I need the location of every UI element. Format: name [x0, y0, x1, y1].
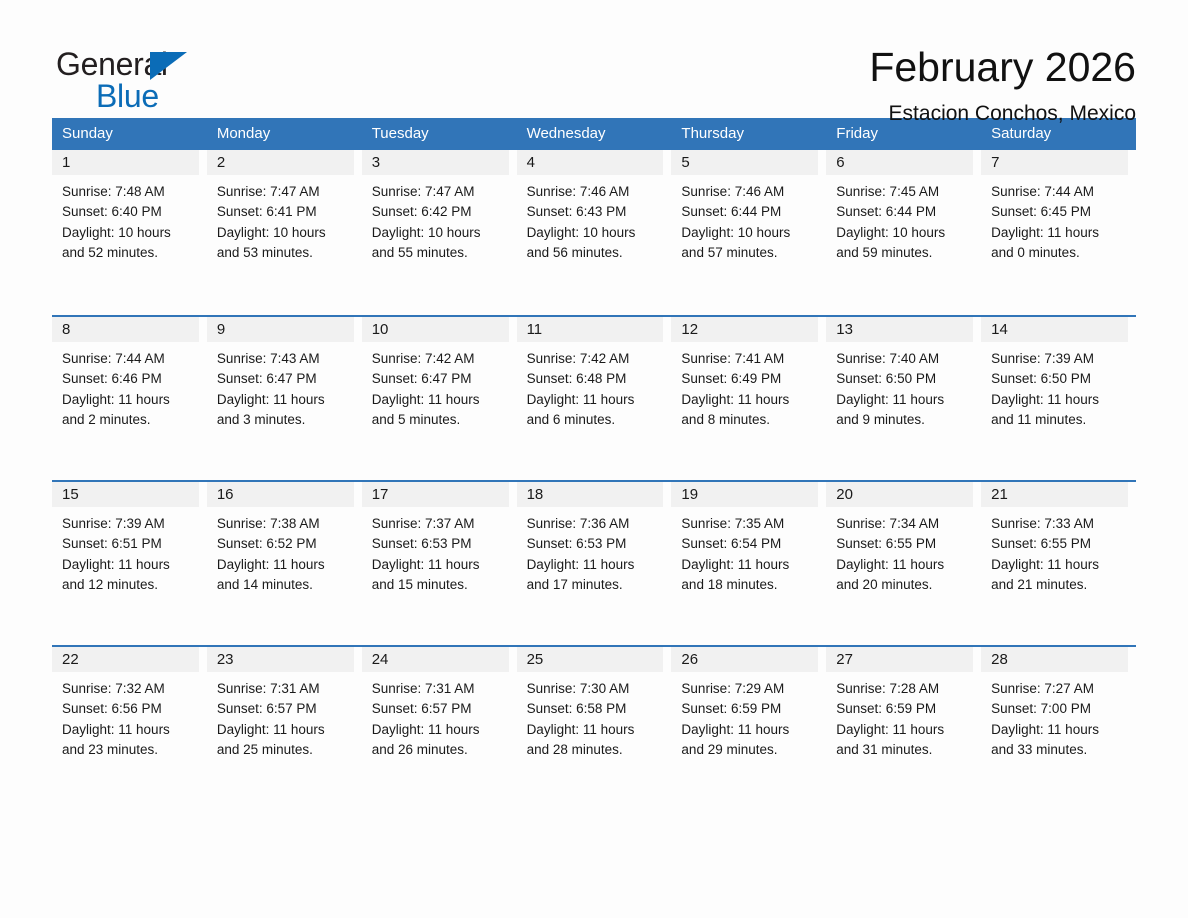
day-number: 23 — [217, 651, 234, 668]
day-number-band: 8 — [52, 317, 199, 342]
day-number: 15 — [62, 486, 79, 503]
day-details: Sunrise: 7:46 AMSunset: 6:43 PMDaylight:… — [517, 175, 664, 263]
day-details: Sunrise: 7:35 AMSunset: 6:54 PMDaylight:… — [671, 507, 818, 595]
day-number: 8 — [62, 321, 70, 338]
sunset-text: Sunset: 6:58 PM — [527, 699, 664, 719]
sunrise-text: Sunrise: 7:33 AM — [991, 514, 1128, 534]
day-number-band: 11 — [517, 317, 664, 342]
sunrise-text: Sunrise: 7:47 AM — [217, 182, 354, 202]
sunrise-text: Sunrise: 7:31 AM — [372, 679, 509, 699]
day-details: Sunrise: 7:31 AMSunset: 6:57 PMDaylight:… — [362, 672, 509, 760]
sunset-text: Sunset: 6:48 PM — [527, 369, 664, 389]
sunset-text: Sunset: 7:00 PM — [991, 699, 1128, 719]
daylight-text-line2: and 33 minutes. — [991, 740, 1128, 760]
day-details: Sunrise: 7:39 AMSunset: 6:50 PMDaylight:… — [981, 342, 1128, 430]
sunrise-text: Sunrise: 7:45 AM — [836, 182, 973, 202]
sunset-text: Sunset: 6:55 PM — [991, 534, 1128, 554]
day-number: 1 — [62, 154, 70, 171]
daylight-text-line1: Daylight: 11 hours — [527, 555, 664, 575]
day-number-band: 12 — [671, 317, 818, 342]
sunrise-text: Sunrise: 7:34 AM — [836, 514, 973, 534]
sunset-text: Sunset: 6:44 PM — [681, 202, 818, 222]
weekday-header-wednesday: Wednesday — [517, 118, 672, 150]
day-number: 11 — [527, 321, 543, 338]
sunrise-text: Sunrise: 7:31 AM — [217, 679, 354, 699]
day-cell[interactable]: 28Sunrise: 7:27 AMSunset: 7:00 PMDayligh… — [981, 647, 1136, 810]
calendar-grid: Sunday Monday Tuesday Wednesday Thursday… — [52, 118, 1136, 810]
day-number: 13 — [836, 321, 853, 338]
calendar-page: General Blue February 2026 Estacion Conc… — [0, 0, 1188, 918]
day-number: 5 — [681, 154, 689, 171]
sunrise-text: Sunrise: 7:42 AM — [372, 349, 509, 369]
daylight-text-line2: and 3 minutes. — [217, 410, 354, 430]
sunset-text: Sunset: 6:53 PM — [372, 534, 509, 554]
daylight-text-line1: Daylight: 11 hours — [991, 223, 1128, 243]
sunset-text: Sunset: 6:50 PM — [836, 369, 973, 389]
daylight-text-line1: Daylight: 10 hours — [836, 223, 973, 243]
sunrise-text: Sunrise: 7:40 AM — [836, 349, 973, 369]
weekday-header-friday: Friday — [826, 118, 981, 150]
day-cell[interactable]: 20Sunrise: 7:34 AMSunset: 6:55 PMDayligh… — [826, 482, 981, 645]
daylight-text-line1: Daylight: 10 hours — [217, 223, 354, 243]
daylight-text-line2: and 6 minutes. — [527, 410, 664, 430]
daylight-text-line1: Daylight: 11 hours — [836, 720, 973, 740]
sunrise-text: Sunrise: 7:32 AM — [62, 679, 199, 699]
day-cell[interactable]: 7Sunrise: 7:44 AMSunset: 6:45 PMDaylight… — [981, 150, 1136, 315]
day-number-band: 17 — [362, 482, 509, 507]
weekday-header-saturday: Saturday — [981, 118, 1136, 150]
daylight-text-line1: Daylight: 11 hours — [372, 390, 509, 410]
day-details: Sunrise: 7:28 AMSunset: 6:59 PMDaylight:… — [826, 672, 973, 760]
sunset-text: Sunset: 6:45 PM — [991, 202, 1128, 222]
day-number-band: 3 — [362, 150, 509, 175]
weekday-header-sunday: Sunday — [52, 118, 207, 150]
sunrise-text: Sunrise: 7:36 AM — [527, 514, 664, 534]
day-number: 4 — [527, 154, 535, 171]
triangle-icon — [150, 52, 187, 80]
day-number-band: 22 — [52, 647, 199, 672]
sunset-text: Sunset: 6:56 PM — [62, 699, 199, 719]
daylight-text-line1: Daylight: 11 hours — [62, 390, 199, 410]
day-cell[interactable]: 12Sunrise: 7:41 AMSunset: 6:49 PMDayligh… — [671, 317, 826, 480]
day-number: 19 — [681, 486, 698, 503]
daylight-text-line2: and 25 minutes. — [217, 740, 354, 760]
day-details: Sunrise: 7:29 AMSunset: 6:59 PMDaylight:… — [671, 672, 818, 760]
daylight-text-line2: and 15 minutes. — [372, 575, 509, 595]
day-details: Sunrise: 7:32 AMSunset: 6:56 PMDaylight:… — [52, 672, 199, 760]
weekday-header-tuesday: Tuesday — [362, 118, 517, 150]
sunrise-text: Sunrise: 7:28 AM — [836, 679, 973, 699]
day-number: 6 — [836, 154, 844, 171]
day-cell[interactable]: 22Sunrise: 7:32 AMSunset: 6:56 PMDayligh… — [52, 647, 207, 810]
day-number-band: 26 — [671, 647, 818, 672]
weekday-header-monday: Monday — [207, 118, 362, 150]
weekday-header-row: Sunday Monday Tuesday Wednesday Thursday… — [52, 118, 1136, 150]
daylight-text-line2: and 57 minutes. — [681, 243, 818, 263]
day-cell[interactable]: 13Sunrise: 7:40 AMSunset: 6:50 PMDayligh… — [826, 317, 981, 480]
week-row: 22Sunrise: 7:32 AMSunset: 6:56 PMDayligh… — [52, 645, 1136, 810]
sunrise-text: Sunrise: 7:30 AM — [527, 679, 664, 699]
daylight-text-line2: and 56 minutes. — [527, 243, 664, 263]
day-number: 9 — [217, 321, 225, 338]
day-details: Sunrise: 7:47 AMSunset: 6:42 PMDaylight:… — [362, 175, 509, 263]
daylight-text-line1: Daylight: 11 hours — [372, 720, 509, 740]
sunset-text: Sunset: 6:59 PM — [681, 699, 818, 719]
day-number: 16 — [217, 486, 234, 503]
day-number: 20 — [836, 486, 853, 503]
day-details: Sunrise: 7:48 AMSunset: 6:40 PMDaylight:… — [52, 175, 199, 263]
day-cell[interactable]: 11Sunrise: 7:42 AMSunset: 6:48 PMDayligh… — [517, 317, 672, 480]
daylight-text-line1: Daylight: 11 hours — [836, 390, 973, 410]
daylight-text-line1: Daylight: 11 hours — [991, 720, 1128, 740]
sunrise-text: Sunrise: 7:48 AM — [62, 182, 199, 202]
day-cell[interactable]: 14Sunrise: 7:39 AMSunset: 6:50 PMDayligh… — [981, 317, 1136, 480]
sunrise-text: Sunrise: 7:39 AM — [991, 349, 1128, 369]
day-details: Sunrise: 7:44 AMSunset: 6:45 PMDaylight:… — [981, 175, 1128, 263]
day-cell[interactable]: 23Sunrise: 7:31 AMSunset: 6:57 PMDayligh… — [207, 647, 362, 810]
day-number-band: 27 — [826, 647, 973, 672]
day-cell[interactable]: 4Sunrise: 7:46 AMSunset: 6:43 PMDaylight… — [517, 150, 672, 315]
day-number: 10 — [372, 321, 389, 338]
daylight-text-line2: and 5 minutes. — [372, 410, 509, 430]
daylight-text-line1: Daylight: 11 hours — [62, 555, 199, 575]
day-cell[interactable]: 1Sunrise: 7:48 AMSunset: 6:40 PMDaylight… — [52, 150, 207, 315]
logo-text-blue: Blue — [96, 80, 159, 112]
day-details: Sunrise: 7:40 AMSunset: 6:50 PMDaylight:… — [826, 342, 973, 430]
daylight-text-line1: Daylight: 11 hours — [372, 555, 509, 575]
daylight-text-line1: Daylight: 11 hours — [527, 720, 664, 740]
day-number-band: 24 — [362, 647, 509, 672]
day-number: 24 — [372, 651, 389, 668]
daylight-text-line1: Daylight: 10 hours — [62, 223, 199, 243]
day-details: Sunrise: 7:37 AMSunset: 6:53 PMDaylight:… — [362, 507, 509, 595]
sunrise-text: Sunrise: 7:38 AM — [217, 514, 354, 534]
daylight-text-line1: Daylight: 11 hours — [62, 720, 199, 740]
daylight-text-line2: and 0 minutes. — [991, 243, 1128, 263]
daylight-text-line2: and 8 minutes. — [681, 410, 818, 430]
daylight-text-line1: Daylight: 11 hours — [217, 720, 354, 740]
daylight-text-line2: and 11 minutes. — [991, 410, 1128, 430]
sunrise-text: Sunrise: 7:46 AM — [681, 182, 818, 202]
day-number-band: 16 — [207, 482, 354, 507]
daylight-text-line2: and 23 minutes. — [62, 740, 199, 760]
week-row: 1Sunrise: 7:48 AMSunset: 6:40 PMDaylight… — [52, 150, 1136, 315]
sunset-text: Sunset: 6:50 PM — [991, 369, 1128, 389]
day-details: Sunrise: 7:33 AMSunset: 6:55 PMDaylight:… — [981, 507, 1128, 595]
day-number: 7 — [991, 154, 999, 171]
daylight-text-line2: and 53 minutes. — [217, 243, 354, 263]
daylight-text-line2: and 21 minutes. — [991, 575, 1128, 595]
day-cell[interactable]: 24Sunrise: 7:31 AMSunset: 6:57 PMDayligh… — [362, 647, 517, 810]
sunrise-text: Sunrise: 7:41 AM — [681, 349, 818, 369]
daylight-text-line1: Daylight: 10 hours — [681, 223, 818, 243]
daylight-text-line1: Daylight: 11 hours — [991, 555, 1128, 575]
page-title: February 2026 — [869, 46, 1136, 89]
day-number-band: 4 — [517, 150, 664, 175]
day-number-band: 14 — [981, 317, 1128, 342]
day-cell[interactable]: 5Sunrise: 7:46 AMSunset: 6:44 PMDaylight… — [671, 150, 826, 315]
day-details: Sunrise: 7:47 AMSunset: 6:41 PMDaylight:… — [207, 175, 354, 263]
daylight-text-line2: and 12 minutes. — [62, 575, 199, 595]
day-cell[interactable]: 17Sunrise: 7:37 AMSunset: 6:53 PMDayligh… — [362, 482, 517, 645]
daylight-text-line2: and 9 minutes. — [836, 410, 973, 430]
day-number: 3 — [372, 154, 380, 171]
day-details: Sunrise: 7:34 AMSunset: 6:55 PMDaylight:… — [826, 507, 973, 595]
sunrise-text: Sunrise: 7:39 AM — [62, 514, 199, 534]
day-number: 25 — [527, 651, 544, 668]
day-cell[interactable]: 15Sunrise: 7:39 AMSunset: 6:51 PMDayligh… — [52, 482, 207, 645]
day-number: 21 — [991, 486, 1008, 503]
day-cell[interactable]: 3Sunrise: 7:47 AMSunset: 6:42 PMDaylight… — [362, 150, 517, 315]
sunset-text: Sunset: 6:49 PM — [681, 369, 818, 389]
sunset-text: Sunset: 6:41 PM — [217, 202, 354, 222]
week-row: 15Sunrise: 7:39 AMSunset: 6:51 PMDayligh… — [52, 480, 1136, 645]
sunset-text: Sunset: 6:55 PM — [836, 534, 973, 554]
sunrise-text: Sunrise: 7:44 AM — [991, 182, 1128, 202]
day-details: Sunrise: 7:44 AMSunset: 6:46 PMDaylight:… — [52, 342, 199, 430]
day-details: Sunrise: 7:42 AMSunset: 6:48 PMDaylight:… — [517, 342, 664, 430]
week-row: 8Sunrise: 7:44 AMSunset: 6:46 PMDaylight… — [52, 315, 1136, 480]
sunrise-text: Sunrise: 7:47 AM — [372, 182, 509, 202]
day-cell[interactable]: 2Sunrise: 7:47 AMSunset: 6:41 PMDaylight… — [207, 150, 362, 315]
daylight-text-line1: Daylight: 10 hours — [527, 223, 664, 243]
day-cell[interactable]: 26Sunrise: 7:29 AMSunset: 6:59 PMDayligh… — [671, 647, 826, 810]
sunrise-text: Sunrise: 7:37 AM — [372, 514, 509, 534]
sunset-text: Sunset: 6:53 PM — [527, 534, 664, 554]
day-number-band: 13 — [826, 317, 973, 342]
day-number-band: 25 — [517, 647, 664, 672]
day-details: Sunrise: 7:43 AMSunset: 6:47 PMDaylight:… — [207, 342, 354, 430]
sunset-text: Sunset: 6:40 PM — [62, 202, 199, 222]
daylight-text-line1: Daylight: 10 hours — [372, 223, 509, 243]
day-number-band: 23 — [207, 647, 354, 672]
sunset-text: Sunset: 6:51 PM — [62, 534, 199, 554]
day-number-band: 19 — [671, 482, 818, 507]
daylight-text-line2: and 31 minutes. — [836, 740, 973, 760]
sunset-text: Sunset: 6:44 PM — [836, 202, 973, 222]
generalblue-logo[interactable]: General Blue — [52, 46, 202, 118]
daylight-text-line1: Daylight: 11 hours — [217, 555, 354, 575]
daylight-text-line1: Daylight: 11 hours — [681, 555, 818, 575]
sunrise-text: Sunrise: 7:29 AM — [681, 679, 818, 699]
sunrise-text: Sunrise: 7:44 AM — [62, 349, 199, 369]
daylight-text-line1: Daylight: 11 hours — [527, 390, 664, 410]
day-details: Sunrise: 7:41 AMSunset: 6:49 PMDaylight:… — [671, 342, 818, 430]
sunset-text: Sunset: 6:54 PM — [681, 534, 818, 554]
day-number-band: 6 — [826, 150, 973, 175]
day-number: 22 — [62, 651, 79, 668]
daylight-text-line2: and 52 minutes. — [62, 243, 199, 263]
daylight-text-line2: and 17 minutes. — [527, 575, 664, 595]
sunset-text: Sunset: 6:57 PM — [372, 699, 509, 719]
day-details: Sunrise: 7:38 AMSunset: 6:52 PMDaylight:… — [207, 507, 354, 595]
sunset-text: Sunset: 6:47 PM — [217, 369, 354, 389]
day-cell[interactable]: 25Sunrise: 7:30 AMSunset: 6:58 PMDayligh… — [517, 647, 672, 810]
day-number: 2 — [217, 154, 225, 171]
daylight-text-line2: and 28 minutes. — [527, 740, 664, 760]
sunset-text: Sunset: 6:59 PM — [836, 699, 973, 719]
day-number-band: 9 — [207, 317, 354, 342]
day-number-band: 15 — [52, 482, 199, 507]
sunrise-text: Sunrise: 7:42 AM — [527, 349, 664, 369]
day-number-band: 21 — [981, 482, 1128, 507]
day-cell[interactable]: 9Sunrise: 7:43 AMSunset: 6:47 PMDaylight… — [207, 317, 362, 480]
sunrise-text: Sunrise: 7:46 AM — [527, 182, 664, 202]
day-cell[interactable]: 19Sunrise: 7:35 AMSunset: 6:54 PMDayligh… — [671, 482, 826, 645]
day-number-band: 20 — [826, 482, 973, 507]
daylight-text-line2: and 55 minutes. — [372, 243, 509, 263]
day-details: Sunrise: 7:27 AMSunset: 7:00 PMDaylight:… — [981, 672, 1128, 760]
day-cell[interactable]: 8Sunrise: 7:44 AMSunset: 6:46 PMDaylight… — [52, 317, 207, 480]
day-cell[interactable]: 27Sunrise: 7:28 AMSunset: 6:59 PMDayligh… — [826, 647, 981, 810]
sunrise-text: Sunrise: 7:35 AM — [681, 514, 818, 534]
day-number-band: 1 — [52, 150, 199, 175]
day-number: 17 — [372, 486, 389, 503]
sunset-text: Sunset: 6:43 PM — [527, 202, 664, 222]
day-details: Sunrise: 7:31 AMSunset: 6:57 PMDaylight:… — [207, 672, 354, 760]
day-details: Sunrise: 7:39 AMSunset: 6:51 PMDaylight:… — [52, 507, 199, 595]
day-number: 28 — [991, 651, 1008, 668]
sunset-text: Sunset: 6:42 PM — [372, 202, 509, 222]
day-details: Sunrise: 7:45 AMSunset: 6:44 PMDaylight:… — [826, 175, 973, 263]
daylight-text-line1: Daylight: 11 hours — [217, 390, 354, 410]
daylight-text-line2: and 59 minutes. — [836, 243, 973, 263]
daylight-text-line2: and 29 minutes. — [681, 740, 818, 760]
daylight-text-line1: Daylight: 11 hours — [836, 555, 973, 575]
sunset-text: Sunset: 6:57 PM — [217, 699, 354, 719]
daylight-text-line2: and 2 minutes. — [62, 410, 199, 430]
day-details: Sunrise: 7:30 AMSunset: 6:58 PMDaylight:… — [517, 672, 664, 760]
daylight-text-line1: Daylight: 11 hours — [681, 720, 818, 740]
sunrise-text: Sunrise: 7:27 AM — [991, 679, 1128, 699]
day-details: Sunrise: 7:42 AMSunset: 6:47 PMDaylight:… — [362, 342, 509, 430]
day-cell[interactable]: 10Sunrise: 7:42 AMSunset: 6:47 PMDayligh… — [362, 317, 517, 480]
page-header: General Blue February 2026 Estacion Conc… — [52, 0, 1136, 104]
title-block: February 2026 Estacion Conchos, Mexico — [869, 46, 1136, 126]
day-number: 27 — [836, 651, 853, 668]
day-cell[interactable]: 6Sunrise: 7:45 AMSunset: 6:44 PMDaylight… — [826, 150, 981, 315]
daylight-text-line2: and 26 minutes. — [372, 740, 509, 760]
day-number: 26 — [681, 651, 698, 668]
day-number-band: 10 — [362, 317, 509, 342]
day-cell[interactable]: 16Sunrise: 7:38 AMSunset: 6:52 PMDayligh… — [207, 482, 362, 645]
day-number-band: 2 — [207, 150, 354, 175]
day-number-band: 18 — [517, 482, 664, 507]
day-cell[interactable]: 18Sunrise: 7:36 AMSunset: 6:53 PMDayligh… — [517, 482, 672, 645]
day-details: Sunrise: 7:46 AMSunset: 6:44 PMDaylight:… — [671, 175, 818, 263]
daylight-text-line2: and 20 minutes. — [836, 575, 973, 595]
daylight-text-line1: Daylight: 11 hours — [991, 390, 1128, 410]
sunrise-text: Sunrise: 7:43 AM — [217, 349, 354, 369]
weekday-header-thursday: Thursday — [671, 118, 826, 150]
daylight-text-line1: Daylight: 11 hours — [681, 390, 818, 410]
sunset-text: Sunset: 6:47 PM — [372, 369, 509, 389]
sunset-text: Sunset: 6:46 PM — [62, 369, 199, 389]
day-number-band: 5 — [671, 150, 818, 175]
day-number-band: 7 — [981, 150, 1128, 175]
day-cell[interactable]: 21Sunrise: 7:33 AMSunset: 6:55 PMDayligh… — [981, 482, 1136, 645]
day-number-band: 28 — [981, 647, 1128, 672]
daylight-text-line2: and 14 minutes. — [217, 575, 354, 595]
sunset-text: Sunset: 6:52 PM — [217, 534, 354, 554]
daylight-text-line2: and 18 minutes. — [681, 575, 818, 595]
day-number: 12 — [681, 321, 698, 338]
day-number: 18 — [527, 486, 544, 503]
day-number: 14 — [991, 321, 1008, 338]
day-details: Sunrise: 7:36 AMSunset: 6:53 PMDaylight:… — [517, 507, 664, 595]
